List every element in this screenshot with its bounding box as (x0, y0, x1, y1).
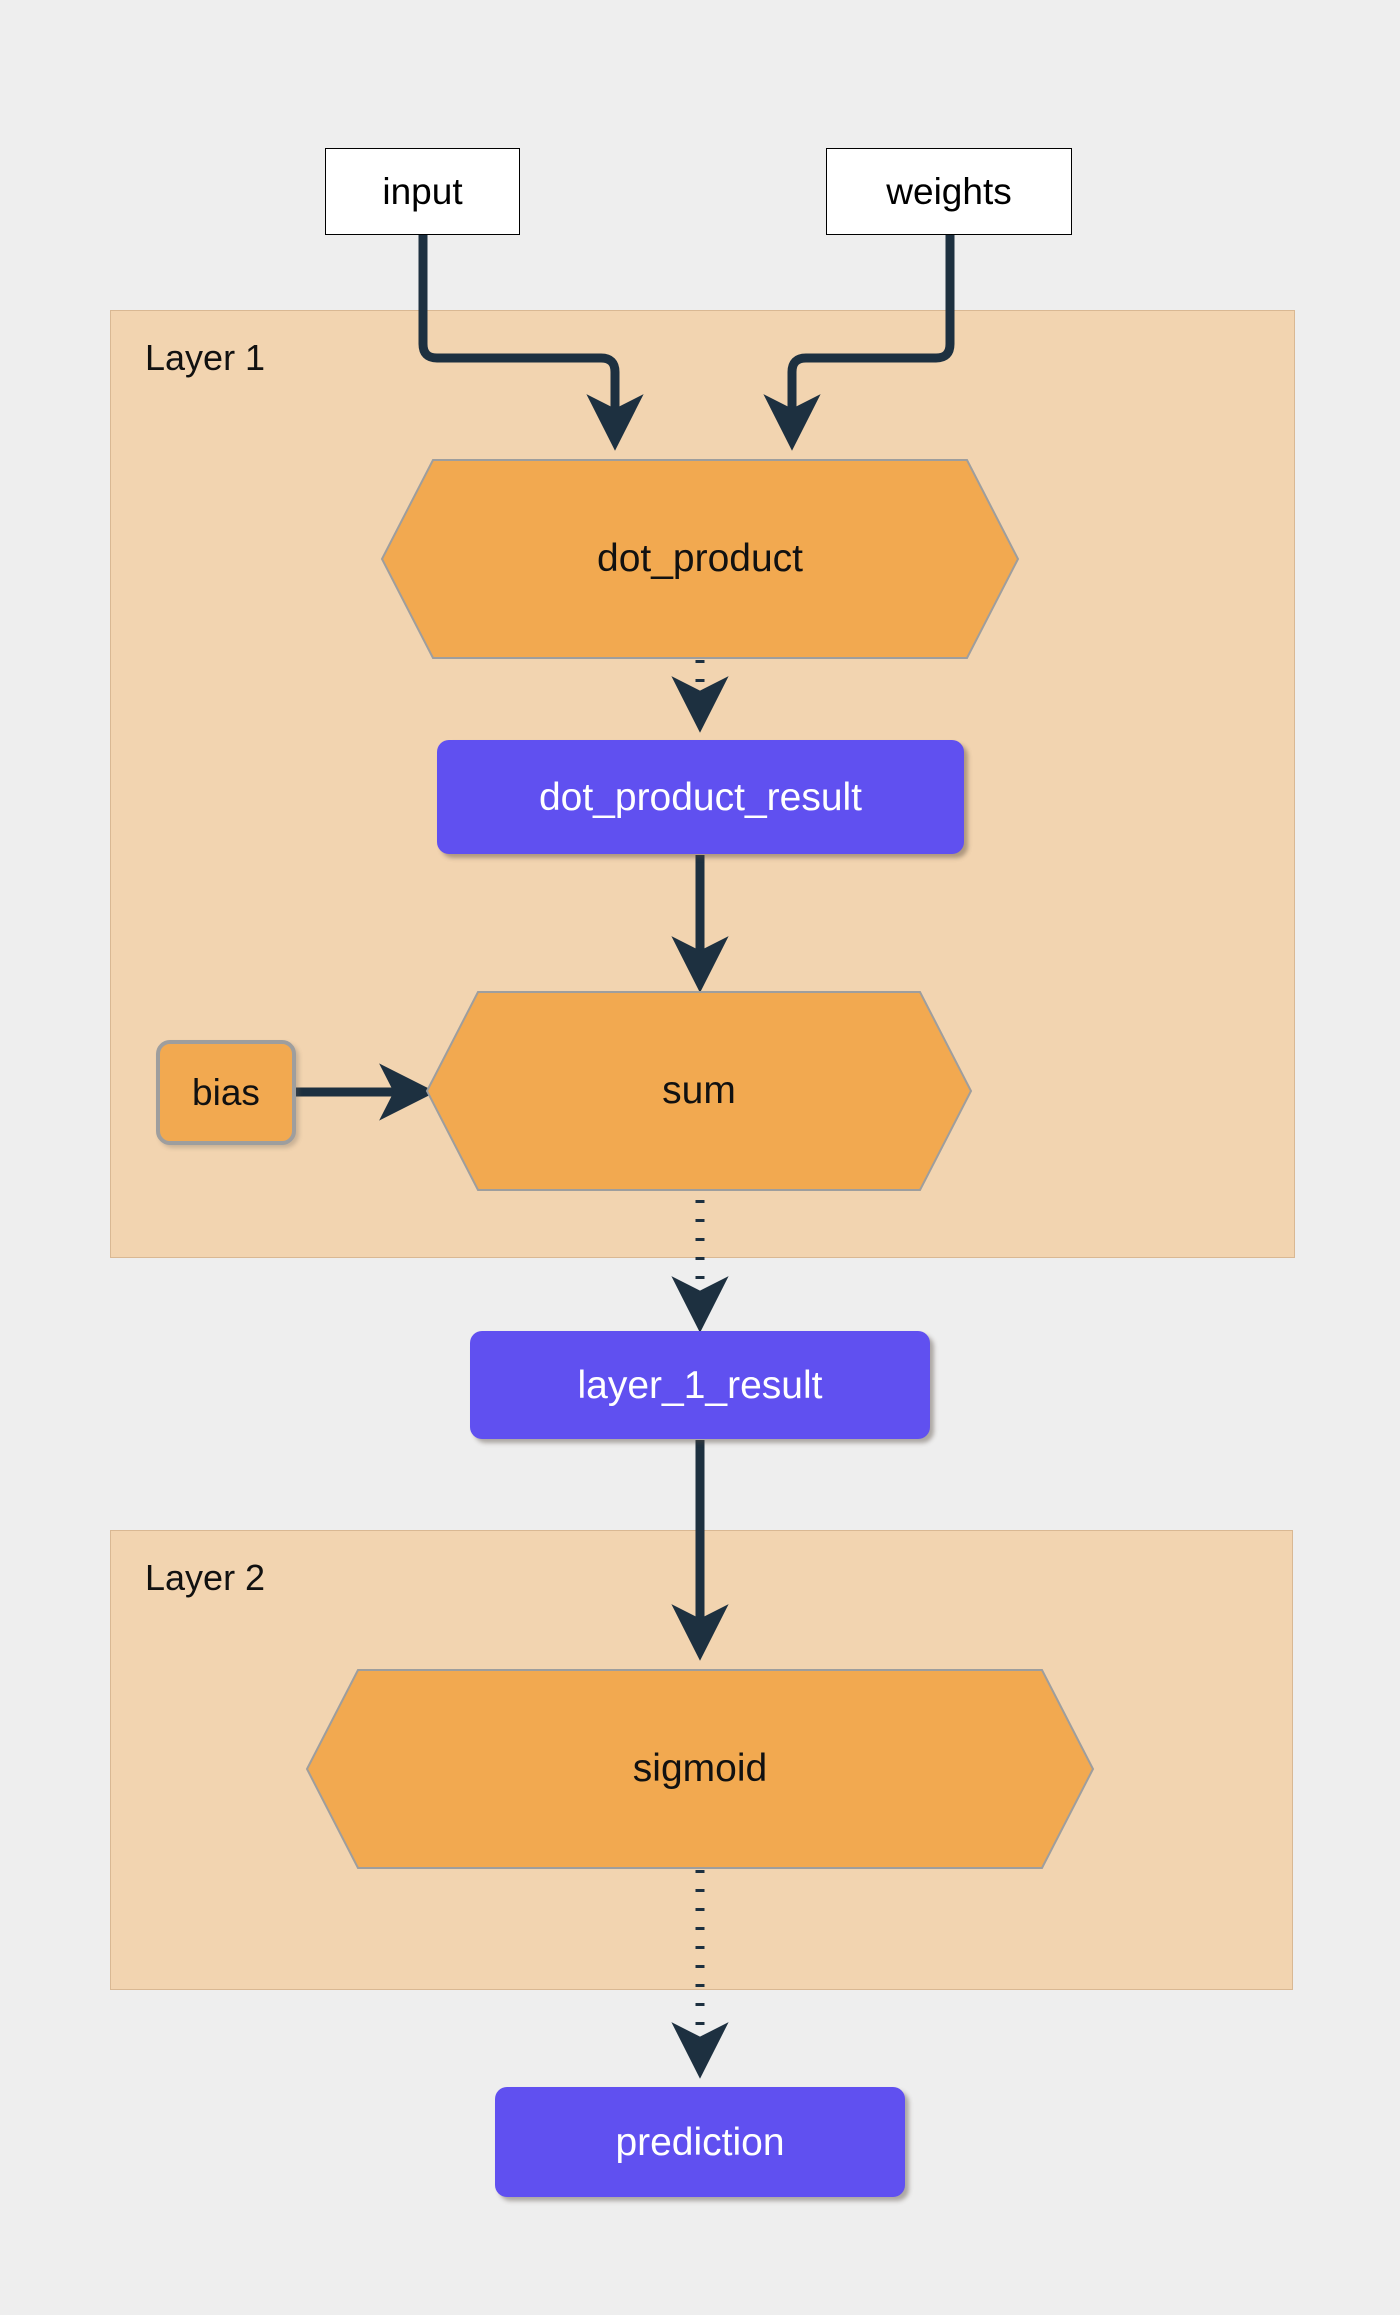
dot-product-hexagon-shape (382, 460, 1018, 658)
edge-input-to-dot-product (423, 235, 615, 440)
edge-weights-to-dot-product (792, 235, 950, 440)
node-bias[interactable]: bias (156, 1040, 296, 1145)
node-sum[interactable]: sum (425, 990, 973, 1192)
node-input-label: input (382, 173, 462, 210)
sigmoid-hexagon-shape (307, 1670, 1093, 1868)
node-input[interactable]: input (325, 148, 520, 235)
node-dot-product-result[interactable]: dot_product_result (437, 740, 964, 854)
node-weights[interactable]: weights (826, 148, 1072, 235)
sum-hexagon-shape (427, 992, 971, 1190)
node-layer-1-result-label: layer_1_result (578, 1366, 823, 1405)
node-prediction[interactable]: prediction (495, 2087, 905, 2197)
node-dot-product[interactable]: dot_product (330, 458, 1070, 660)
node-layer-1-result[interactable]: layer_1_result (470, 1331, 930, 1439)
diagram-canvas: Layer 1 Layer 2 input weights (0, 0, 1400, 2315)
node-prediction-label: prediction (615, 2123, 784, 2162)
node-sigmoid[interactable]: sigmoid (305, 1668, 1095, 1870)
node-weights-label: weights (886, 173, 1011, 210)
node-dot-product-result-label: dot_product_result (539, 778, 862, 817)
node-bias-label: bias (192, 1072, 260, 1114)
